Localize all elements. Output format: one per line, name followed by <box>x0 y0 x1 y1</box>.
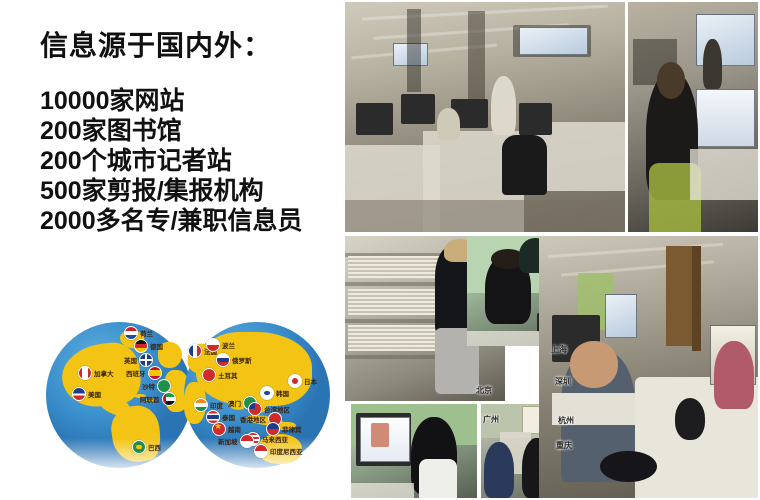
city-label-guangzhou: 广州 <box>483 414 499 425</box>
photo-open-plan-newsroom-office <box>345 2 625 232</box>
globe-fade-west <box>46 438 192 482</box>
flag-label-tr: 土耳其 <box>218 370 238 380</box>
flag-icon-es <box>148 366 162 380</box>
flag-marker-tr: 土耳其 <box>202 368 238 382</box>
photo-collage: 北京 上海 深圳 杭州 广州 重庆 <box>343 0 760 500</box>
flag-marker-ca: 加拿大 <box>78 366 114 380</box>
flag-label-mo: 澳门 <box>228 398 241 408</box>
flag-icon-ca <box>78 366 92 380</box>
slide-root: 信息源于国内外： 10000家网站 200家图书馆 200个城市记者站 500家… <box>0 0 760 500</box>
flag-label-hk: 香港地区 <box>240 414 266 424</box>
flag-icon-pl <box>206 338 220 352</box>
flag-label-uk: 英国 <box>124 355 137 365</box>
flag-icon-br <box>132 440 146 454</box>
list-item: 10000家网站 <box>40 86 303 116</box>
flag-marker-ae: 阿联酋 <box>140 392 176 406</box>
flag-label-pl: 波兰 <box>222 340 235 350</box>
source-list: 10000家网站 200家图书馆 200个城市记者站 500家剪报/集报机构 2… <box>40 86 303 236</box>
flag-icon-sg <box>240 434 254 448</box>
western-hemisphere-globe: 荷兰德国英国西班牙沙特阿联酋加拿大美国巴西 <box>46 322 192 482</box>
flag-icon-ae <box>162 392 176 406</box>
city-label-shanghai: 上海 <box>551 344 567 355</box>
flag-label-ca: 加拿大 <box>94 368 114 378</box>
photo-guangzhou-office <box>351 404 477 498</box>
city-label-beijing: 北京 <box>476 385 492 396</box>
list-item: 200家图书馆 <box>40 116 303 146</box>
world-map-globes: 荷兰德国英国西班牙沙特阿联酋加拿大美国巴西 法国波兰俄罗斯土耳其日本韩国印度澳门… <box>38 322 338 500</box>
flag-marker-us: 美国 <box>72 387 101 401</box>
flag-label-th: 泰国 <box>222 412 235 422</box>
flag-label-de: 德国 <box>150 341 163 351</box>
page-title: 信息源于国内外： <box>40 24 272 64</box>
flag-icon-us <box>72 387 86 401</box>
flag-label-jp: 日本 <box>304 376 317 386</box>
flag-marker-sa: 沙特 <box>142 379 171 393</box>
flag-label-us: 美国 <box>88 389 101 399</box>
city-label-shenzhen: 深圳 <box>555 376 571 387</box>
flag-label-in: 印度 <box>210 400 223 410</box>
photo-woman-at-workstation <box>628 2 758 232</box>
list-item: 200个城市记者站 <box>40 146 303 176</box>
flag-label-kr: 韩国 <box>276 388 289 398</box>
flag-marker-de: 德国 <box>134 339 163 353</box>
flag-label-nl: 荷兰 <box>140 328 153 338</box>
list-item: 2000多名专/兼职信息员 <box>40 206 303 236</box>
flag-label-id: 印度尼西亚 <box>270 446 303 456</box>
flag-icon-uk <box>139 353 153 367</box>
city-label-hangzhou: 杭州 <box>558 415 574 426</box>
apple-logo-icon <box>675 398 706 440</box>
flag-icon-de <box>134 339 148 353</box>
flag-label-ae: 阿联酋 <box>140 394 160 404</box>
flag-label-ru: 俄罗斯 <box>232 355 252 365</box>
flag-marker-es: 西班牙 <box>126 366 162 380</box>
flag-icon-nl <box>124 326 138 340</box>
flag-label-es: 西班牙 <box>126 368 146 378</box>
flag-marker-kr: 韩国 <box>260 386 289 400</box>
eastern-hemisphere-globe: 法国波兰俄罗斯土耳其日本韩国印度澳门台湾地区泰国香港地区越南菲律宾马来西亚新加坡… <box>184 322 330 482</box>
city-label-chongqing: 重庆 <box>556 440 572 451</box>
flag-label-my: 马来西亚 <box>262 434 288 444</box>
flag-marker-id: 印度尼西亚 <box>254 444 303 458</box>
flag-label-sa: 沙特 <box>142 381 155 391</box>
text-panel: 信息源于国内外： 10000家网站 200家图书馆 200个城市记者站 500家… <box>0 0 343 500</box>
flag-marker-nl: 荷兰 <box>124 326 153 340</box>
flag-icon-kr <box>260 386 274 400</box>
flag-marker-pl: 波兰 <box>206 338 235 352</box>
list-item: 500家剪报/集报机构 <box>40 176 303 206</box>
flag-icon-id <box>254 444 268 458</box>
flag-marker-br: 巴西 <box>132 440 161 454</box>
flag-label-br: 巴西 <box>148 442 161 452</box>
flag-marker-uk: 英国 <box>124 353 153 367</box>
flag-icon-fr <box>188 344 202 358</box>
flag-icon-ru <box>216 353 230 367</box>
flag-label-vn: 越南 <box>228 424 241 434</box>
photo-man-at-imac-workstation <box>539 236 758 498</box>
flag-marker-ru: 俄罗斯 <box>216 353 252 367</box>
flag-marker-jp: 日本 <box>288 374 317 388</box>
flag-marker-sg: 新加坡 <box>218 434 254 448</box>
flag-icon-tr <box>202 368 216 382</box>
flag-icon-jp <box>288 374 302 388</box>
flag-icon-sa <box>157 379 171 393</box>
flag-label-sg: 新加坡 <box>218 436 238 446</box>
